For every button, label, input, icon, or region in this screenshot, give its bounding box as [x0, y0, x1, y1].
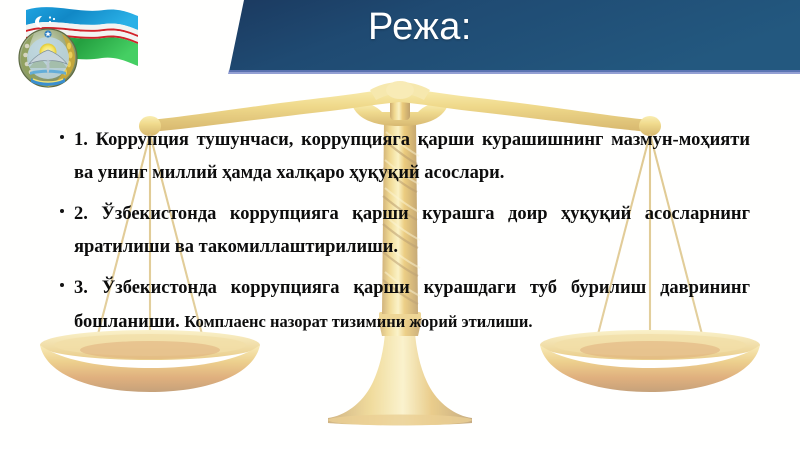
bullet-list: 1. Коррупция тушунчаси, коррупцияга қарш…	[58, 124, 750, 339]
bullet-marker-icon	[60, 135, 64, 139]
bullet-marker-icon	[60, 209, 64, 213]
list-item-text-2: 2. Ўзбекистонда коррупцияга қарши курашг…	[74, 198, 750, 264]
uzbekistan-flag-emblem-icon	[4, 0, 144, 105]
list-item-text-3-small: Комплаенс назорат тизимини жорий этилиши…	[184, 312, 532, 331]
slide-canvas: Режа:	[0, 0, 800, 449]
list-item: 3. Ўзбекистонда коррупцияга қарши курашд…	[58, 272, 750, 339]
list-item-text-1: 1. Коррупция тушунчаси, коррупцияга қарш…	[74, 124, 750, 190]
bullet-marker-icon	[60, 283, 64, 287]
list-item: 2. Ўзбекистонда коррупцияга қарши курашг…	[58, 198, 750, 264]
list-item-text-3: 3. Ўзбекистонда коррупцияга қарши курашд…	[74, 272, 750, 339]
list-item: 1. Коррупция тушунчаси, коррупцияга қарш…	[58, 124, 750, 190]
